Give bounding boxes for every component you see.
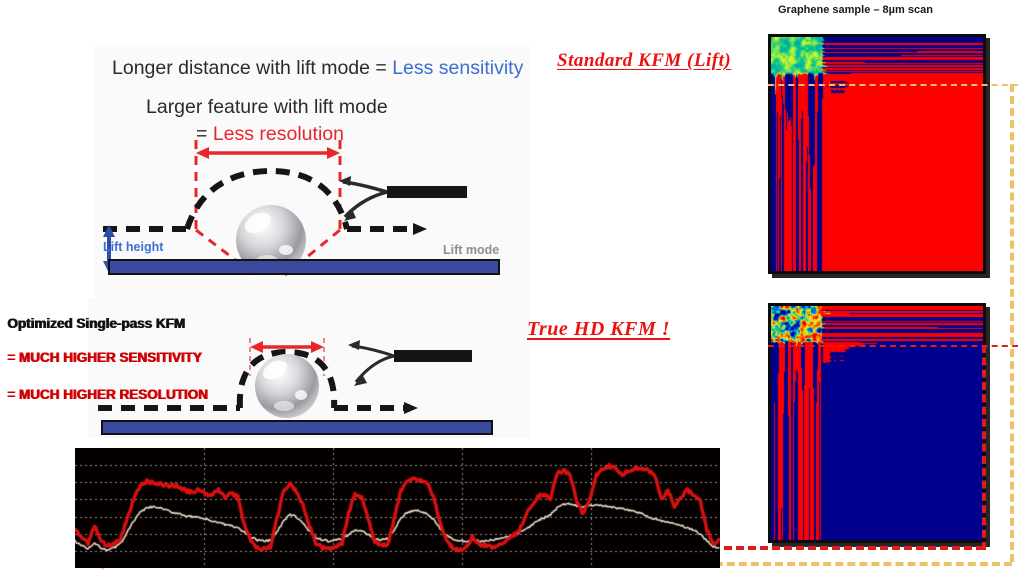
standard-kfm-lift-afm-image xyxy=(768,34,986,274)
cantilever-probe xyxy=(339,176,467,221)
connector-hd-vertical xyxy=(982,345,986,550)
connector-standard-vertical xyxy=(1010,84,1014,562)
scan-line-standard xyxy=(768,84,1018,86)
line-profile-chart xyxy=(75,448,720,568)
scan-line-hd xyxy=(768,345,1018,347)
lift-mode-label: Lift mode xyxy=(443,243,499,257)
lift-height-label: Lift height xyxy=(103,240,163,254)
substrate-bar xyxy=(109,260,499,274)
lift-mode-schematic xyxy=(95,45,530,298)
substrate-bar xyxy=(102,421,492,434)
annotation-true-hd-kfm: True HD KFM ! xyxy=(527,318,670,341)
true-hd-kfm-afm-image xyxy=(768,303,986,543)
graphene-sample-header: Graphene sample – 8µm scan xyxy=(778,4,933,16)
annotation-standard-kfm: Standard KFM (Lift) xyxy=(557,50,731,72)
